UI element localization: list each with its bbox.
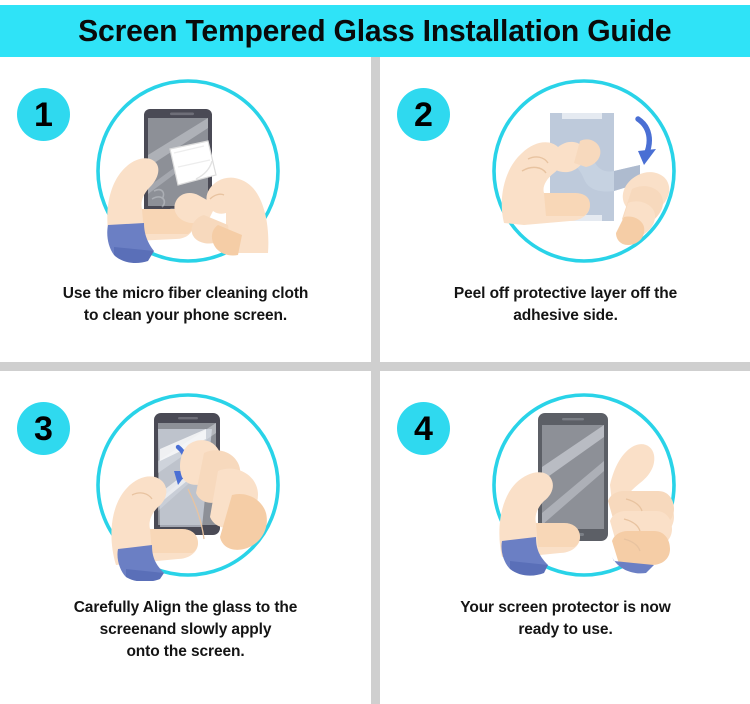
vertical-divider (371, 57, 380, 704)
step-illustration-3 (92, 389, 284, 581)
step-number-badge-4: 4 (397, 402, 450, 455)
step-card-3: 3 (0, 371, 371, 676)
page-title: Screen Tempered Glass Installation Guide (78, 13, 671, 49)
step-number-badge-3: 3 (17, 402, 70, 455)
step-card-4: 4 (380, 371, 750, 676)
step-number-4: 4 (414, 412, 433, 446)
caption-line: to clean your phone screen. (12, 305, 359, 327)
step-illustration-1 (92, 75, 284, 267)
caption-line: ready to use. (392, 619, 739, 641)
caption-line: Use the micro fiber cleaning cloth (12, 283, 359, 305)
step-number-3: 3 (34, 412, 53, 446)
step-number-2: 2 (414, 98, 433, 132)
step-card-2: 2 (380, 57, 750, 362)
step-number-1: 1 (34, 98, 53, 132)
horizontal-divider (0, 362, 750, 371)
caption-line: screenand slowly apply (12, 619, 359, 641)
caption-line: Peel off protective layer off the (392, 283, 739, 305)
installation-guide-page: Screen Tempered Glass Installation Guide… (0, 0, 750, 704)
step-illustration-4 (488, 389, 680, 581)
step-caption-3: Carefully Align the glass to the screena… (12, 597, 359, 663)
header-banner: Screen Tempered Glass Installation Guide (0, 5, 750, 57)
caption-line: Your screen protector is now (392, 597, 739, 619)
step-illustration-2 (488, 75, 680, 267)
step-card-1: 1 (0, 57, 371, 362)
caption-line: Carefully Align the glass to the (12, 597, 359, 619)
caption-line: adhesive side. (392, 305, 739, 327)
step-caption-1: Use the micro fiber cleaning cloth to cl… (12, 283, 359, 327)
step-number-badge-2: 2 (397, 88, 450, 141)
caption-line: onto the screen. (12, 641, 359, 663)
step-caption-4: Your screen protector is now ready to us… (392, 597, 739, 641)
step-number-badge-1: 1 (17, 88, 70, 141)
step-caption-2: Peel off protective layer off the adhesi… (392, 283, 739, 327)
